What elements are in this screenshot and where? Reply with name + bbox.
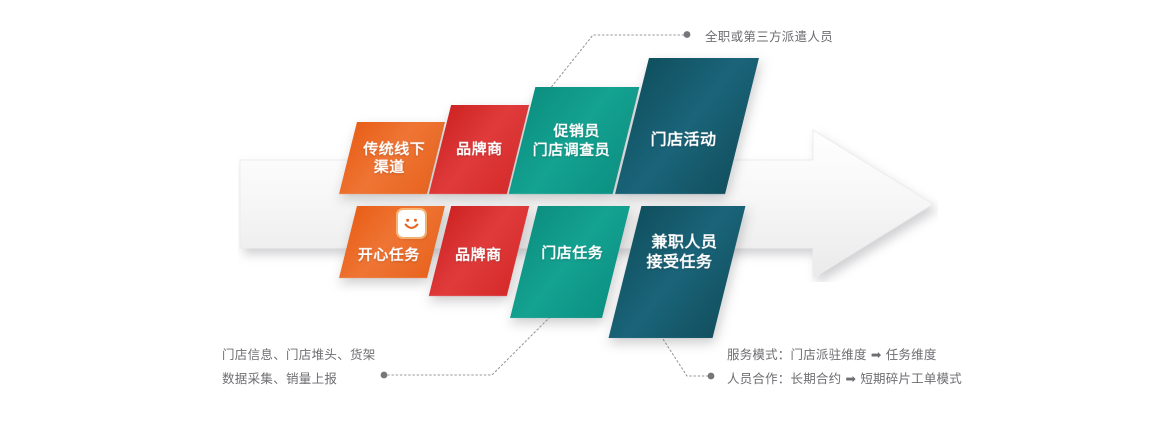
block-label-line-2: 渠道 (374, 158, 405, 176)
block-label-line-2: 接受任务 (647, 252, 713, 272)
block-happy-task[interactable]: 开心任务 (339, 206, 445, 278)
annotation-line-1: 门店信息、门店堆头、货架 (222, 343, 376, 367)
connector-dot-data-collection (381, 372, 388, 379)
block-label-line-1: 促销员 (553, 122, 600, 140)
block-label-line-1: 开心任务 (358, 246, 420, 264)
connector-dot-service-model (708, 373, 715, 380)
annotation-service-model: 服务模式：门店派驻维度 ➡ 任务维度 人员合作：长期合约 ➡ 短期碎片工单模式 (727, 343, 962, 392)
block-traditional-offline-channel[interactable]: 传统线下 渠道 (339, 122, 445, 194)
block-label-line-1: 传统线下 (363, 140, 425, 158)
annotation-staffing: 全职或第三方派遣人员 (705, 25, 833, 49)
annotation-line-2: 人员合作：长期合约 ➡ 短期碎片工单模式 (727, 367, 962, 391)
annotation-line: 全职或第三方派遣人员 (705, 25, 833, 49)
block-label-line-1: 门店任务 (541, 244, 603, 262)
block-label-line-1: 兼职人员 (652, 232, 718, 252)
block-label-line-1: 品牌商 (455, 246, 502, 264)
connector-data-collection (388, 314, 553, 375)
connector-service-model (661, 336, 708, 376)
connector-dot-staffing (684, 31, 691, 38)
diagram-canvas: 传统线下 渠道 品牌商 促销员 门店调查员 门店活动 开心任务 品牌商 门店任务… (0, 0, 1150, 430)
block-label-line-1: 品牌商 (456, 140, 503, 158)
annotation-line-2: 数据采集、销量上报 (222, 367, 376, 391)
annotation-data-collection: 门店信息、门店堆头、货架 数据采集、销量上报 (222, 343, 376, 392)
block-label-line-2: 门店调查员 (533, 141, 611, 159)
block-label-line-1: 门店活动 (651, 130, 717, 150)
annotation-line-1: 服务模式：门店派驻维度 ➡ 任务维度 (727, 343, 962, 367)
smiley-icon (398, 210, 425, 237)
